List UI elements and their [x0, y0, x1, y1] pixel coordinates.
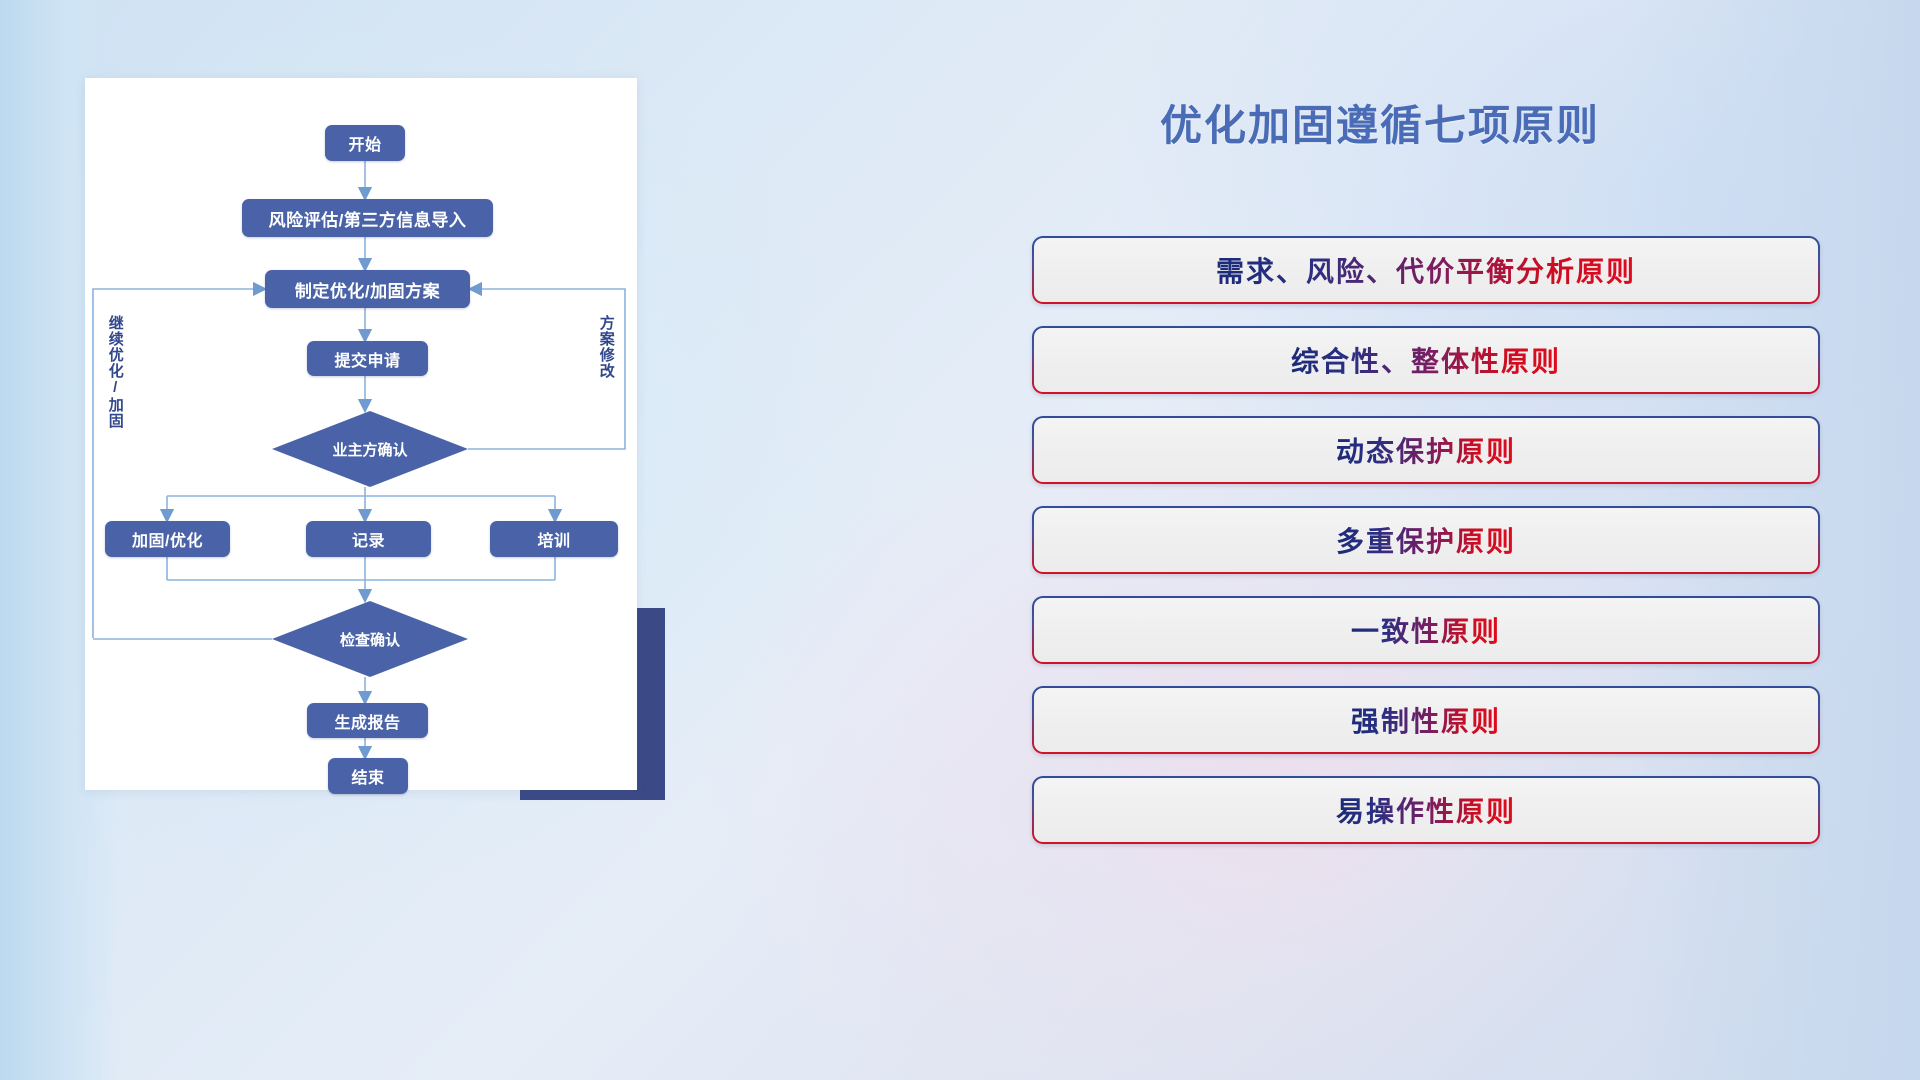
flow-node-label: 记录: [352, 527, 385, 551]
flow-node-plan: 制定优化/加固方案: [265, 270, 470, 308]
flow-node-label: 结束: [351, 764, 384, 788]
flow-node-label: 制定优化/加固方案: [295, 277, 440, 302]
principles-list: 需求、风险、代价平衡分析原则 综合性、整体性原则 动态保护原则 多重保护原则 一…: [1032, 236, 1820, 866]
flow-node-risk-assessment: 风险评估/第三方信息导入: [242, 199, 493, 237]
principle-label: 强制性原则: [1351, 700, 1501, 740]
flow-node-label: 加固/优化: [132, 527, 203, 551]
principle-label: 多重保护原则: [1336, 520, 1516, 560]
principle-item[interactable]: 动态保护原则: [1032, 416, 1820, 484]
principle-label: 一致性原则: [1351, 610, 1501, 650]
principle-label: 易操作性原则: [1336, 790, 1516, 830]
flow-node-start: 开始: [325, 125, 405, 161]
flow-node-label: 提交申请: [334, 347, 400, 371]
flow-node-label: 业主方确认: [332, 439, 407, 460]
flow-node-end: 结束: [328, 758, 408, 794]
principle-item[interactable]: 易操作性原则: [1032, 776, 1820, 844]
flow-node-label: 生成报告: [334, 709, 400, 733]
flow-node-label: 检查确认: [340, 629, 400, 650]
principle-item-inner: 易操作性原则: [1034, 778, 1818, 842]
flow-node-label: 培训: [537, 527, 570, 551]
principle-item[interactable]: 强制性原则: [1032, 686, 1820, 754]
principle-label: 动态保护原则: [1336, 430, 1516, 470]
principle-label: 需求、风险、代价平衡分析原则: [1216, 250, 1636, 290]
flow-node-label: 开始: [348, 131, 381, 155]
principles-title: 优化加固遵循七项原则: [1160, 92, 1600, 153]
principle-item[interactable]: 多重保护原则: [1032, 506, 1820, 574]
flow-node-generate-report: 生成报告: [307, 703, 428, 738]
principle-item[interactable]: 综合性、整体性原则: [1032, 326, 1820, 394]
flowchart-card: 开始 风险评估/第三方信息导入 制定优化/加固方案 提交申请 业主方确认 加固/…: [85, 78, 637, 790]
principle-item-inner: 综合性、整体性原则: [1034, 328, 1818, 392]
flow-node-record: 记录: [306, 521, 431, 557]
principle-item-inner: 需求、风险、代价平衡分析原则: [1034, 238, 1818, 302]
principle-item[interactable]: 需求、风险、代价平衡分析原则: [1032, 236, 1820, 304]
flow-node-label: 风险评估/第三方信息导入: [269, 206, 467, 231]
principle-item-inner: 强制性原则: [1034, 688, 1818, 752]
principle-item[interactable]: 一致性原则: [1032, 596, 1820, 664]
principle-item-inner: 动态保护原则: [1034, 418, 1818, 482]
flow-node-reinforce-optimize: 加固/优化: [105, 521, 230, 557]
flow-label-plan-revision: 方案修改: [598, 315, 614, 379]
flow-node-submit-application: 提交申请: [307, 341, 428, 376]
flow-label-continue-optimize: 继续优化/加固: [107, 315, 123, 429]
principle-item-inner: 多重保护原则: [1034, 508, 1818, 572]
flow-node-training: 培训: [490, 521, 618, 557]
principle-item-inner: 一致性原则: [1034, 598, 1818, 662]
principle-label: 综合性、整体性原则: [1291, 340, 1561, 380]
